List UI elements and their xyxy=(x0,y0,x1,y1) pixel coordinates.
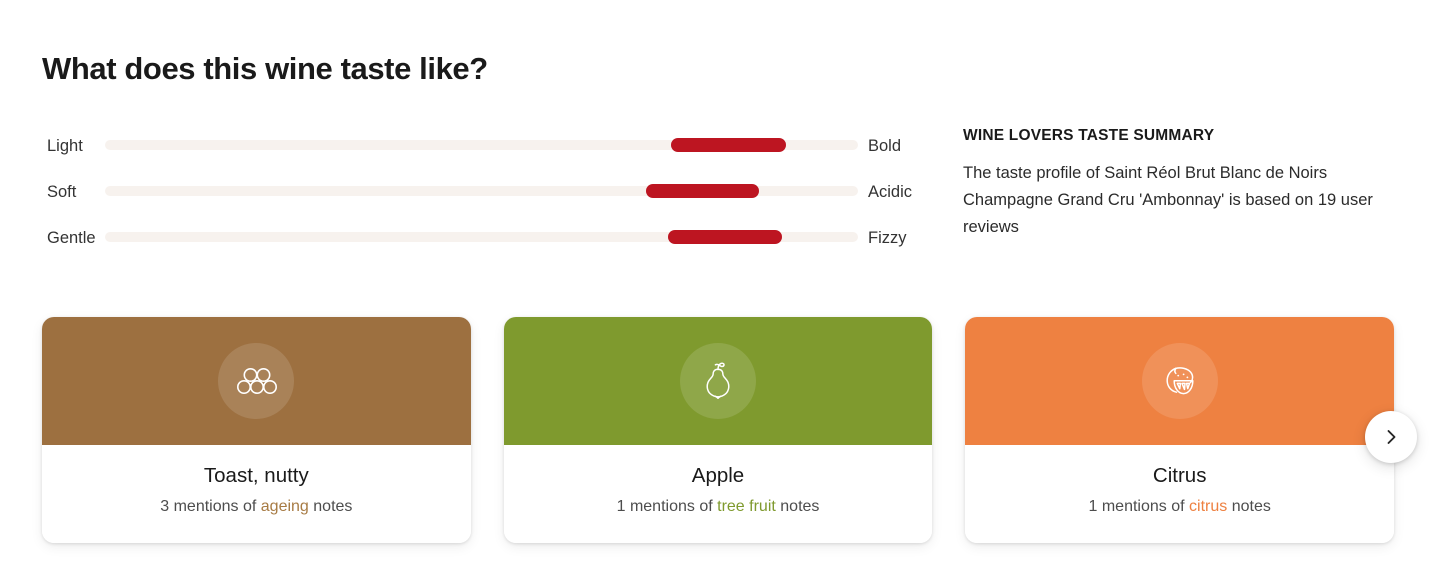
flavor-card-hero xyxy=(504,317,933,445)
taste-profile-section: What does this wine taste like? Light Bo… xyxy=(0,0,1445,576)
flavor-card-citrus[interactable]: Citrus 1 mentions of citrus notes xyxy=(965,317,1394,543)
slider-right-label-body: Bold xyxy=(868,136,901,156)
mentions-prefix: 1 mentions of xyxy=(1089,498,1185,515)
slider-row-body: Light Bold xyxy=(42,132,922,178)
mentions-prefix: 3 mentions of xyxy=(160,498,256,515)
flavor-card-apple[interactable]: Apple 1 mentions of tree fruit notes xyxy=(504,317,933,543)
flavor-card-hero xyxy=(965,317,1394,445)
flavor-card-title: Citrus xyxy=(965,463,1394,489)
flavor-card-body: Apple 1 mentions of tree fruit notes xyxy=(504,445,933,543)
slider-left-label-body: Light xyxy=(47,136,83,156)
slider-fill-body xyxy=(671,138,785,152)
flavor-card-mentions: 1 mentions of citrus notes xyxy=(965,496,1394,518)
slider-left-label-fizziness: Gentle xyxy=(47,228,96,248)
slider-fill-acidity xyxy=(646,184,759,198)
flavor-cards-carousel: Toast, nutty 3 mentions of ageing notes xyxy=(42,317,1394,543)
slider-row-fizziness: Gentle Fizzy xyxy=(42,224,922,270)
flavor-card-mentions: 3 mentions of ageing notes xyxy=(42,496,471,518)
flavor-card-mentions: 1 mentions of tree fruit notes xyxy=(504,496,933,518)
flavor-card-hero xyxy=(42,317,471,445)
citrus-icon xyxy=(1142,343,1218,419)
flavor-card-body: Citrus 1 mentions of citrus notes xyxy=(965,445,1394,543)
chevron-right-icon xyxy=(1381,427,1401,447)
mentions-suffix: notes xyxy=(780,498,819,515)
slider-row-acidity: Soft Acidic xyxy=(42,178,922,224)
mentions-suffix: notes xyxy=(313,498,352,515)
mentions-accent-word: ageing xyxy=(261,498,309,515)
slider-left-label-acidity: Soft xyxy=(47,182,76,202)
slider-fill-fizziness xyxy=(668,230,782,244)
slider-track-fizziness xyxy=(105,232,858,242)
slider-right-label-fizziness: Fizzy xyxy=(868,228,907,248)
taste-structure-sliders: Light Bold Soft Acidic Gentle Fizzy xyxy=(42,132,922,270)
nuts-icon xyxy=(218,343,294,419)
pear-icon xyxy=(680,343,756,419)
page-title: What does this wine taste like? xyxy=(42,52,488,86)
flavor-card-title: Toast, nutty xyxy=(42,463,471,489)
mentions-accent-word: citrus xyxy=(1189,498,1227,515)
wine-lovers-taste-summary: WINE LOVERS TASTE SUMMARY The taste prof… xyxy=(963,126,1395,241)
mentions-prefix: 1 mentions of xyxy=(617,498,713,515)
slider-track-body xyxy=(105,140,858,150)
mentions-suffix: notes xyxy=(1232,498,1271,515)
flavor-card-title: Apple xyxy=(504,463,933,489)
mentions-accent-word: tree fruit xyxy=(717,498,776,515)
flavor-card-body: Toast, nutty 3 mentions of ageing notes xyxy=(42,445,471,543)
summary-title: WINE LOVERS TASTE SUMMARY xyxy=(963,126,1395,146)
slider-track-acidity xyxy=(105,186,858,196)
flavor-card-toast-nutty[interactable]: Toast, nutty 3 mentions of ageing notes xyxy=(42,317,471,543)
summary-text: The taste profile of Saint Réol Brut Bla… xyxy=(963,160,1395,241)
slider-right-label-acidity: Acidic xyxy=(868,182,912,202)
carousel-next-button[interactable] xyxy=(1365,411,1417,463)
